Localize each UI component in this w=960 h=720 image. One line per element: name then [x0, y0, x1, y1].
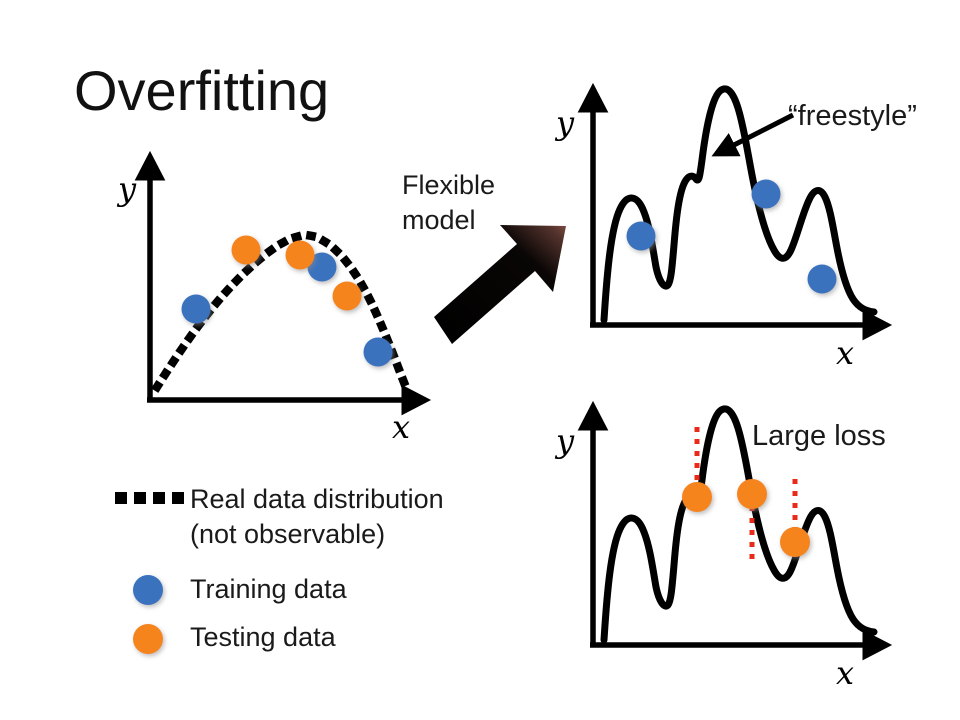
freestyle-annotation: “freestyle”	[788, 100, 917, 133]
data-point-testing	[333, 282, 362, 311]
legend-label-line-1: Real data distribution	[190, 484, 444, 514]
data-point-testing	[232, 236, 261, 265]
large-loss-annotation: Large loss	[752, 420, 886, 453]
slide-canvas: Overfitting	[0, 0, 960, 720]
x-axis-label: x	[836, 654, 854, 692]
flexible-model-arrow	[434, 225, 566, 344]
data-point-training	[364, 338, 393, 367]
legend-item-testing-data: Testing data	[190, 620, 336, 655]
testing-points-bottom-right	[682, 479, 810, 557]
training-points-left	[182, 253, 393, 367]
data-point-testing	[682, 482, 712, 512]
legend-item-training-data: Training data	[190, 572, 347, 607]
data-point-testing	[780, 527, 810, 557]
legend	[115, 492, 184, 654]
flexible-model-line-2: model	[402, 205, 476, 235]
legend-swatch-testing	[133, 624, 163, 654]
testing-points-left	[232, 236, 362, 311]
legend-swatch-dotted-line	[115, 492, 184, 504]
data-point-training	[752, 180, 781, 209]
y-axis-label: y	[556, 104, 574, 142]
legend-label-line-2: (not observable)	[190, 519, 385, 549]
x-axis-label: x	[392, 408, 410, 446]
data-point-testing	[286, 241, 315, 270]
y-axis-label: y	[556, 422, 574, 460]
data-point-training	[808, 265, 837, 294]
data-point-training	[627, 222, 656, 251]
data-point-testing	[737, 479, 767, 509]
flexible-model-line-1: Flexible	[402, 170, 495, 200]
chart-real-distribution	[147, 174, 408, 400]
data-point-training	[182, 295, 211, 324]
y-axis-label: y	[118, 170, 136, 208]
legend-swatch-training	[133, 575, 163, 605]
legend-item-real-distribution: Real data distribution (not observable)	[190, 482, 530, 551]
flexible-model-label: Flexible model	[402, 168, 552, 237]
x-axis-label: x	[836, 334, 854, 372]
